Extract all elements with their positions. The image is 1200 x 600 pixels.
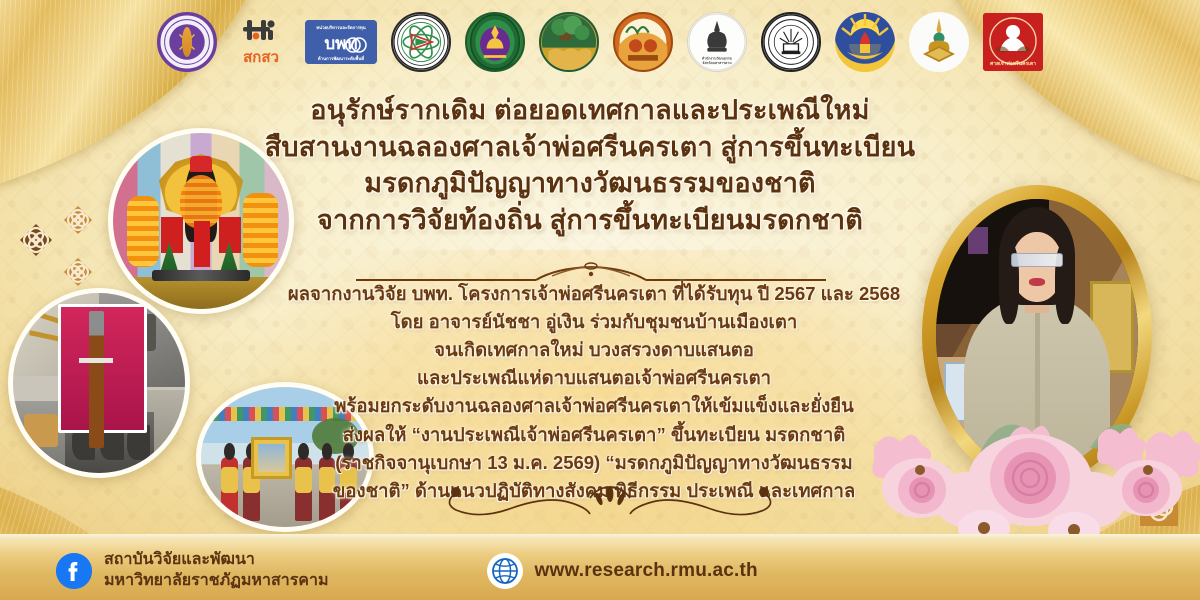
globe-icon[interactable] — [487, 553, 523, 589]
title-line-4: จากการวิจัยท้องถิ่น สู่การขึ้นทะเบียนมรด… — [232, 202, 948, 239]
title-line-3: มรดกภูมิปัญญาทางวัฒนธรรมของชาติ — [232, 165, 948, 202]
poster-title: อนุรักษ์รากเดิม ต่อยอดเทศกาลและประเพณีให… — [232, 92, 948, 239]
footer-facebook-group[interactable]: สถาบันวิจัยและพัฒนา มหาวิทยาลัยราชภัฏมหา… — [56, 550, 329, 592]
svg-text:ศาลเจ้าพ่อศรีนครเตา: ศาลเจ้าพ่อศรีนครเตา — [990, 60, 1036, 67]
footer-website-group[interactable]: www.research.rmu.ac.th — [487, 553, 758, 589]
body-line-3: จนเกิดเทศกาลใหม่ บวงสรวงดาบแสนตอ — [236, 336, 952, 364]
footer-institute-line1: สถาบันวิจัยและพัฒนา — [104, 550, 329, 571]
svg-text:จังหวัดมหาสารคาม: จังหวัดมหาสารคาม — [702, 60, 732, 65]
corner-motif-left-diamonds — [6, 188, 110, 296]
body-line-1: ผลจากงานวิจัย บพท. โครงการเจ้าพ่อศรีนครเ… — [236, 280, 952, 308]
svg-text:หน่วยบริหารและจัดการทุน: หน่วยบริหารและจัดการทุน — [316, 25, 365, 31]
title-line-2: สืบสานงานฉลองศาลเจ้าพ่อศรีนครเตา สู่การข… — [232, 129, 948, 166]
footer-institute-line2: มหาวิทยาลัยราชภัฏมหาสารคาม — [104, 571, 329, 592]
footer-website-url[interactable]: www.research.rmu.ac.th — [535, 560, 758, 582]
logo-sun-emblem — [835, 12, 895, 72]
footer-facebook-text: สถาบันวิจัยและพัฒนา มหาวิทยาลัยราชภัฏมหา… — [104, 550, 329, 592]
title-line-1: อนุรักษ์รากเดิม ต่อยอดเทศกาลและประเพณีให… — [232, 92, 948, 129]
logo-atom-emblem — [391, 12, 451, 72]
logo-ministry-culture: สำนักงานวัฒนธรรม จังหวัดมหาสารคาม — [687, 12, 747, 72]
logo-white-stupa — [909, 12, 969, 72]
photo-crafts — [8, 288, 190, 478]
svg-text:สกสว: สกสว — [243, 48, 279, 66]
logo-strip: สกสว หน่วยบริหารและจัดการทุน บพท ด้านการ… — [0, 6, 1200, 78]
facebook-icon[interactable] — [56, 553, 92, 589]
body-line-4: และประเพณีแห่ดาบแสนตอเจ้าพ่อศรีนครเตา — [236, 364, 952, 392]
svg-text:สำนักงานวัฒนธรรม: สำนักงานวัฒนธรรม — [702, 55, 733, 60]
logo-university-seal — [761, 12, 821, 72]
logo-purple-emblem — [157, 12, 217, 72]
bottom-flourish-icon — [440, 472, 780, 526]
logo-sakso: สกสว — [231, 12, 291, 72]
logo-red-square: ศาลเจ้าพ่อศรีนครเตา — [983, 13, 1043, 71]
poster-root: สกสว หน่วยบริหารและจัดการทุน บพท ด้านการ… — [0, 0, 1200, 600]
logo-green-oval — [465, 12, 525, 72]
body-line-2: โดย อาจารย์นัชชา อู่เงิน ร่วมกับชุมชนบ้า… — [236, 308, 952, 336]
logo-orange-emblem — [613, 12, 673, 72]
logo-bpt: หน่วยบริหารและจัดการทุน บพท ด้านการพัฒนา… — [305, 20, 377, 64]
body-line-5: พร้อมยกระดับงานฉลองศาลเจ้าพ่อศรีนครเตาให… — [236, 392, 952, 420]
logo-tree-emblem — [539, 12, 599, 72]
footer-bar: สถาบันวิจัยและพัฒนา มหาวิทยาลัยราชภัฏมหา… — [0, 538, 1200, 600]
body-line-6: ส่งผลให้ “งานประเพณีเจ้าพ่อศรีนครเตา” ขึ… — [236, 421, 952, 449]
portrait-researcher — [922, 185, 1152, 485]
